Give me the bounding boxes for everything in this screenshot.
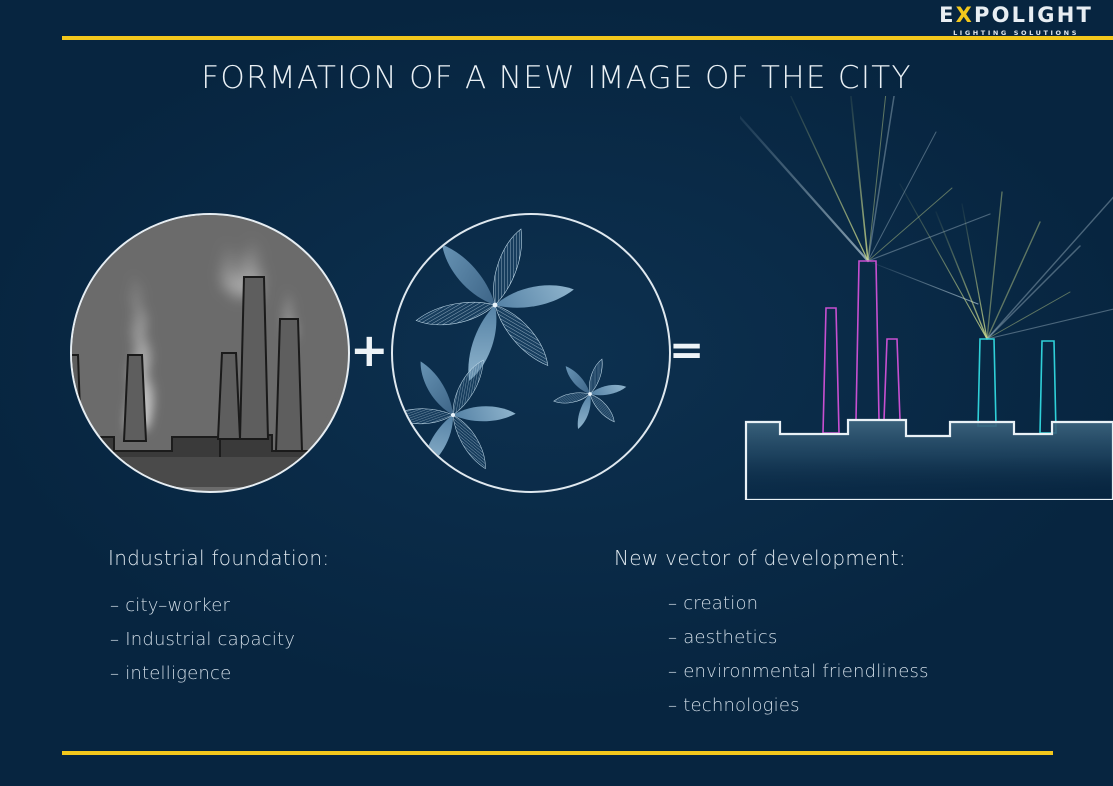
illuminated-city-skyline <box>740 96 1113 500</box>
bullet-dash: – <box>110 595 119 616</box>
bullet-dash: – <box>110 629 119 650</box>
flower-medium <box>393 356 516 473</box>
left-column-list: –city–worker –Industrial capacity –intel… <box>110 595 295 697</box>
equals-operator: = <box>669 329 704 371</box>
flower-large <box>416 229 574 381</box>
flowers-scene-svg <box>393 215 665 487</box>
expolight-logo: EXPOLIGHT LIGHTING SOLUTIONS <box>939 5 1093 37</box>
list-item: –technologies <box>668 695 929 716</box>
magenta-towers <box>823 261 900 433</box>
list-item-label: Industrial capacity <box>125 629 295 650</box>
logo-x-accent: X <box>956 3 974 27</box>
list-item-label: environmental friendliness <box>683 661 928 682</box>
logo-wordmark: EXPOLIGHT <box>939 5 1093 26</box>
light-beams-right-tower <box>900 184 1113 339</box>
flowers-illustration <box>391 213 671 493</box>
factory-scene-svg <box>72 215 344 487</box>
left-column-heading: Industrial foundation: <box>108 546 329 570</box>
logo-word-part2: POLIGHT <box>974 3 1093 27</box>
bullet-dash: – <box>668 695 677 716</box>
industrial-city-illustration <box>70 213 350 493</box>
list-item: –aesthetics <box>668 627 929 648</box>
flower-small <box>554 359 627 429</box>
logo-word-part1: E <box>939 3 956 27</box>
list-item: –environmental friendliness <box>668 661 929 682</box>
page-title: FORMATION OF A NEW IMAGE OF THE CITY <box>0 60 1113 96</box>
skyline-base <box>746 420 1113 500</box>
list-item-label: creation <box>683 593 758 614</box>
plus-operator: + <box>350 327 389 373</box>
list-item-label: aesthetics <box>683 627 777 648</box>
right-column-list: –creation –aesthetics –environmental fri… <box>668 593 929 729</box>
list-item: –intelligence <box>110 663 295 684</box>
list-item: –creation <box>668 593 929 614</box>
bullet-dash: – <box>668 593 677 614</box>
list-item: –Industrial capacity <box>110 629 295 650</box>
list-item-label: intelligence <box>125 663 231 684</box>
cyan-towers <box>978 339 1056 433</box>
list-item-label: city–worker <box>125 595 230 616</box>
bullet-dash: – <box>110 663 119 684</box>
right-column-heading: New vector of development: <box>614 546 906 570</box>
slide-canvas: EXPOLIGHT LIGHTING SOLUTIONS FORMATION O… <box>0 0 1113 786</box>
list-item-label: technologies <box>683 695 800 716</box>
top-accent-rule <box>62 36 1113 40</box>
list-item: –city–worker <box>110 595 295 616</box>
bullet-dash: – <box>668 627 677 648</box>
bullet-dash: – <box>668 661 677 682</box>
light-beams-left-tower <box>740 96 990 304</box>
skyline-svg <box>740 96 1113 500</box>
bottom-accent-rule <box>62 751 1053 755</box>
